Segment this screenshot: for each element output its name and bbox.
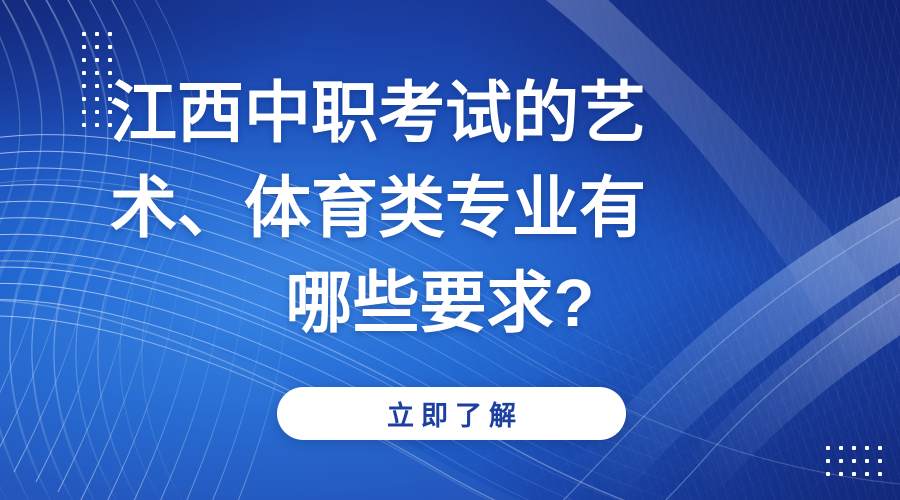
headline-line-1: 江西中职考试的艺 xyxy=(110,66,810,161)
banner-content: 江西中职考试的艺 术、体育类专业有 哪些要求? 立即了解 xyxy=(0,0,900,500)
headline-line-3: 哪些要求? xyxy=(110,256,770,351)
headline: 江西中职考试的艺 术、体育类专业有 哪些要求? xyxy=(110,66,810,351)
cta-button[interactable]: 立即了解 xyxy=(277,387,626,440)
promo-banner: 江西中职考试的艺 术、体育类专业有 哪些要求? 立即了解 xyxy=(0,0,900,500)
headline-line-2: 术、体育类专业有 xyxy=(110,161,810,256)
cta-button-label: 立即了解 xyxy=(380,394,523,433)
